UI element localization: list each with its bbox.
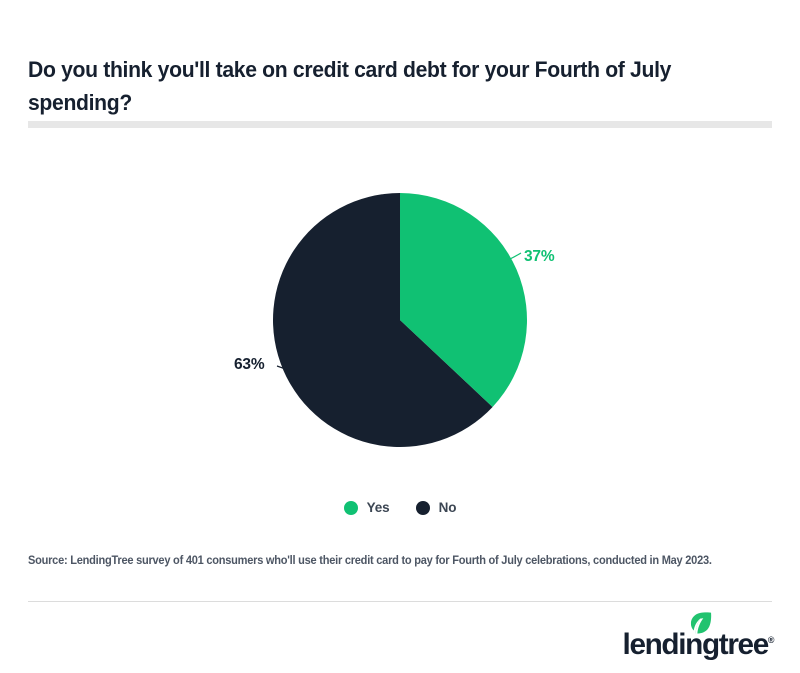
pie-chart-svg [0,140,800,480]
logo-trademark: ® [767,635,774,645]
slice-value-label-yes: 37% [524,248,554,266]
pie-chart: 37% 63% [0,140,800,480]
footer-divider [28,601,772,602]
legend-item-no[interactable]: No [416,500,457,515]
legend-label-no: No [439,500,457,515]
source-note: Source: LendingTree survey of 401 consum… [28,555,738,567]
title-divider [28,121,772,128]
page-title: Do you think you'll take on credit card … [28,53,686,119]
chart-legend: Yes No [0,500,800,515]
legend-label-yes: Yes [367,500,390,515]
infographic-card: Do you think you'll take on credit card … [0,0,800,673]
legend-swatch-no-icon [416,501,430,515]
lendingtree-logo[interactable]: lendingtree® [621,614,774,660]
legend-item-yes[interactable]: Yes [344,500,390,515]
slice-value-label-no: 63% [234,356,264,374]
leaf-icon [690,612,711,634]
legend-swatch-yes-icon [344,501,358,515]
